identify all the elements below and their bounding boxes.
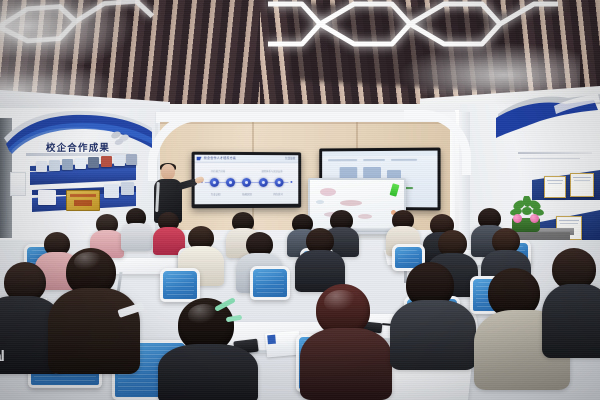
chair-backrest <box>250 266 290 300</box>
wall-poster <box>10 172 26 196</box>
slide-node <box>259 178 268 187</box>
slide-node-small <box>290 181 292 183</box>
hex-led-light-icon <box>258 0 558 58</box>
jacket-text: cal <box>0 348 30 364</box>
chair-backrest <box>160 268 200 302</box>
attendee-torso <box>300 328 392 400</box>
slide-title: 校企合作人才培养方案 <box>204 156 236 160</box>
slide-node <box>275 178 284 187</box>
slide-captions: 专业认知 技能实训 岗位实习 <box>200 192 294 198</box>
slide-node-row <box>201 175 293 189</box>
slide-brand: 智慧职教 <box>285 156 295 160</box>
attendee-torso <box>542 284 600 358</box>
whiteboard-marking <box>358 214 372 219</box>
shelf-item <box>88 157 99 168</box>
content-line <box>391 159 417 161</box>
secondary-toolbar <box>322 151 437 157</box>
chair[interactable] <box>250 266 290 300</box>
shelf-certificate <box>121 182 134 195</box>
shelf-item <box>126 154 137 165</box>
chair[interactable] <box>160 268 200 302</box>
shelf-item <box>49 160 60 171</box>
flower <box>513 214 522 223</box>
shelf-item <box>36 161 47 172</box>
shelf-item <box>62 159 73 170</box>
attendee-torso <box>158 344 258 400</box>
slide-caption: 技能实训 <box>242 192 252 198</box>
presentation-display[interactable]: 校企合作人才培养方案 智慧职教 岗位能力分析 课程体系与实训安排 专业认知 技能… <box>192 152 302 209</box>
award-plaque <box>66 190 100 211</box>
wall-accent-line <box>518 152 592 154</box>
slide-badge: 岗位能力分析 <box>211 169 225 173</box>
training-room-photo: 校企合作成果 <box>0 0 600 400</box>
attendee-torso <box>121 223 152 251</box>
slide-badge: 课程体系与实训安排 <box>261 169 282 173</box>
slide-node <box>242 177 251 186</box>
shelf-item <box>101 156 112 167</box>
hair-highlight <box>74 252 104 272</box>
slide-node <box>226 177 235 186</box>
framed-certificate <box>570 173 594 197</box>
slide-caption: 专业认知 <box>211 192 221 198</box>
slide-caption: 岗位实习 <box>273 192 282 198</box>
whiteboard-marking <box>320 188 336 196</box>
shelf-certificate <box>38 190 56 205</box>
attendee-torso <box>48 288 140 374</box>
content-line <box>363 159 385 161</box>
wall-accent-line <box>520 158 580 159</box>
presenter-head <box>161 164 175 180</box>
slide-badges: 岗位能力分析 课程体系与实训安排 <box>211 169 283 173</box>
presentation-slide: 校企合作人才培养方案 智慧职教 岗位能力分析 课程体系与实训安排 专业认知 技能… <box>195 155 299 205</box>
attendee-torso <box>390 300 476 370</box>
slide-node <box>210 177 219 186</box>
flower <box>530 214 539 223</box>
shelf-item <box>114 155 125 166</box>
framed-certificate <box>544 176 566 198</box>
shelf-certificate <box>104 184 119 198</box>
whiteboard-marking <box>316 200 324 204</box>
sticky-note <box>389 183 399 196</box>
shelf-item <box>75 158 86 169</box>
wall-headline: 校企合作成果 <box>22 140 134 154</box>
blue-wave-graphic-icon <box>494 92 600 140</box>
hair-highlight <box>324 290 358 314</box>
whiteboard[interactable] <box>308 178 406 234</box>
whiteboard-marking <box>340 200 362 206</box>
content-line <box>328 159 357 161</box>
